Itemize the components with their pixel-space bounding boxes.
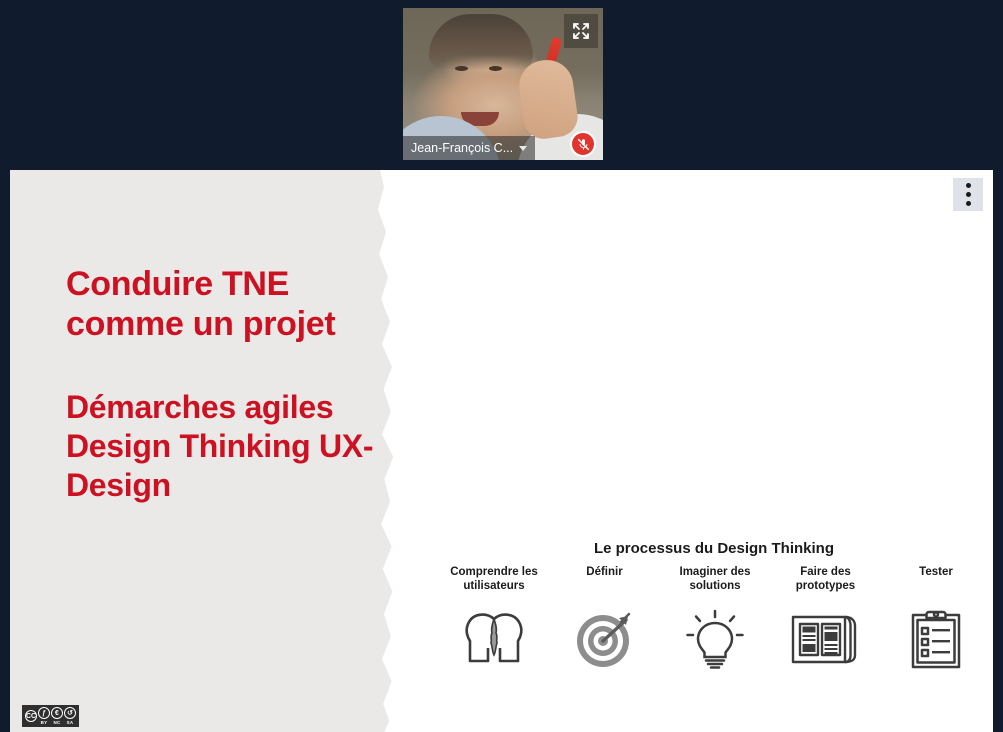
cc-sa-label: SA (67, 720, 74, 725)
fullscreen-expand-icon (571, 21, 591, 41)
cc-by-icon: ƒ (38, 707, 50, 719)
cc-nc-label: NC (54, 720, 61, 725)
participant-name-menu[interactable]: Jean-François C... (403, 136, 535, 160)
cc-mark-by: ƒ BY (38, 707, 50, 725)
slide-title: Conduire TNE comme un projet (66, 264, 396, 344)
process-steps: Comprendre les utilisateurs Définir (440, 565, 990, 671)
diagram-title: Le processus du Design Thinking (434, 540, 993, 557)
process-step-tester: Tester (882, 565, 990, 671)
slide-title-block: Conduire TNE comme un projet Démarches a… (66, 264, 396, 505)
cc-by-nc-sa-badge: CC ƒ BY € NC ↺ SA (22, 705, 79, 727)
video-person-eye-left (455, 66, 468, 71)
process-step-comprendre: Comprendre les utilisateurs (440, 565, 548, 671)
cc-by-label: BY (41, 720, 48, 725)
microphone-muted-icon (576, 137, 591, 152)
process-step-prototypes: Faire des prototypes (772, 565, 880, 671)
cc-nc-icon: € (51, 707, 63, 719)
two-heads-icon (461, 609, 527, 671)
more-options-button[interactable] (953, 178, 983, 211)
chevron-down-icon[interactable] (519, 146, 527, 151)
fullscreen-button[interactable] (564, 14, 598, 48)
process-step-definir: Définir (551, 565, 659, 671)
video-person-hand (516, 57, 580, 142)
target-dart-icon (574, 609, 636, 671)
lightbulb-icon (685, 609, 745, 671)
step-label: Imaginer des solutions (661, 565, 769, 593)
kebab-menu-icon-dot3 (966, 201, 971, 206)
cc-mark-sa: ↺ SA (64, 707, 76, 725)
step-label: Définir (586, 565, 622, 593)
slide-subtitle: Démarches agiles Design Thinking UX-Desi… (66, 388, 396, 505)
cc-mark-nc: € NC (51, 707, 63, 725)
video-person-hair (429, 14, 533, 70)
step-label: Tester (919, 565, 953, 593)
kebab-menu-icon (966, 183, 971, 188)
cc-sa-icon: ↺ (64, 707, 76, 719)
clipboard-checklist-icon (908, 609, 964, 671)
kebab-menu-icon-dot2 (966, 192, 971, 197)
process-step-imaginer: Imaginer des solutions (661, 565, 769, 671)
blueprint-wireframe-icon (790, 609, 862, 671)
video-participant-tile[interactable]: Jean-François C... (403, 8, 603, 160)
step-label: Comprendre les utilisateurs (440, 565, 548, 593)
presentation-slide: Conduire TNE comme un projet Démarches a… (10, 170, 993, 732)
mute-status-badge (570, 131, 596, 157)
cc-icon: CC (25, 710, 37, 722)
step-label: Faire des prototypes (772, 565, 880, 593)
video-person-eye-right (489, 66, 502, 71)
screen-root: Jean-François C... Conduire TNE comme un… (0, 0, 1003, 732)
participant-name-label: Jean-François C... (411, 141, 513, 155)
